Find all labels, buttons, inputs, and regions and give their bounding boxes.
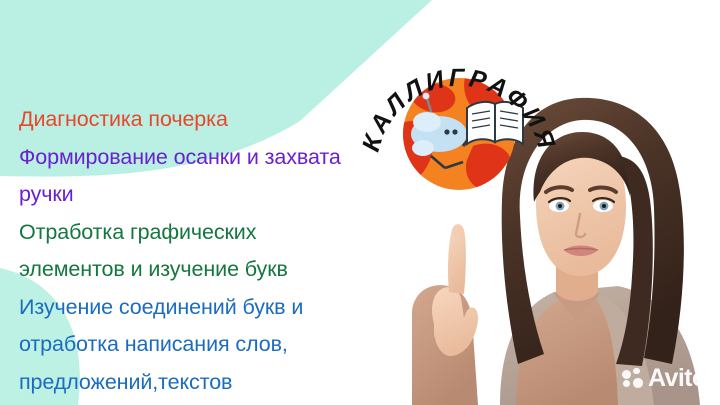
service-item-line-6: Изучение соединений букв и bbox=[0, 289, 445, 327]
pupil-right bbox=[602, 204, 606, 208]
robot-eye-right bbox=[452, 129, 457, 134]
robot-arm bbox=[412, 140, 434, 156]
avito-watermark: Avito bbox=[622, 361, 714, 395]
service-item-line-5: элементов и изучение букв bbox=[0, 251, 445, 289]
service-item-line-8: предложений,текстов bbox=[0, 364, 445, 402]
book-page-left bbox=[467, 102, 495, 144]
pupil-left bbox=[558, 204, 562, 208]
robot-head bbox=[413, 112, 441, 132]
service-item-line-4: Отработка графических bbox=[0, 214, 445, 252]
robot-eye-left bbox=[444, 129, 449, 134]
calligraphy-logo: КАЛЛИГРАФИЯ bbox=[361, 22, 557, 200]
advertisement-image: Диагностика почерка Формирование осанки … bbox=[0, 0, 720, 405]
logo-svg: КАЛЛИГРАФИЯ bbox=[361, 22, 557, 200]
avito-dots-icon bbox=[622, 367, 644, 389]
avito-wordmark: Avito bbox=[648, 366, 707, 391]
service-item-line-7: отработка написания слов, bbox=[0, 326, 445, 364]
